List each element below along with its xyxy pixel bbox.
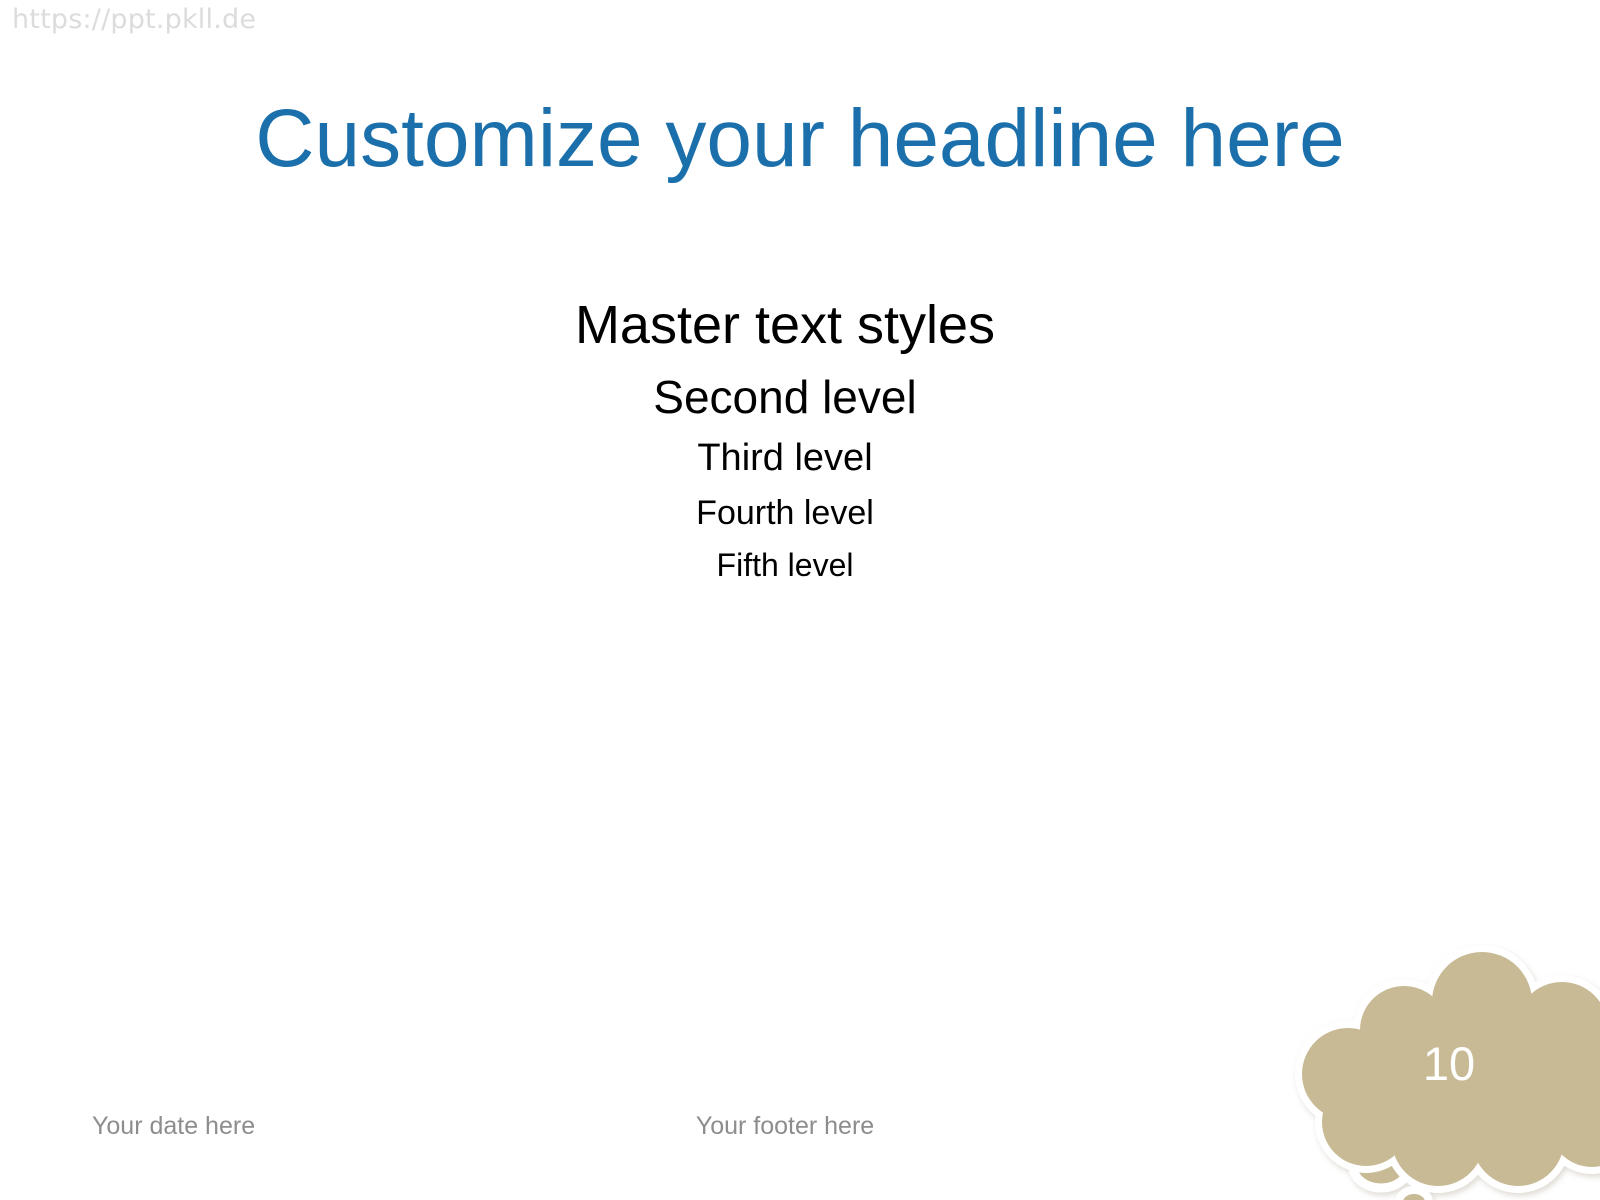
text-level-3: Third level [140, 431, 1430, 487]
slide-canvas: https://ppt.pkll.de Customize your headl… [0, 0, 1600, 1200]
master-text-placeholder: Master text styles Second level Third le… [140, 286, 1430, 591]
slide-number: 10 [1404, 1040, 1494, 1087]
text-level-1: Master text styles [140, 286, 1430, 364]
text-level-5: Fifth level [140, 540, 1430, 591]
footer-date-placeholder: Your date here [92, 1112, 255, 1141]
text-level-2: Second level [140, 364, 1430, 431]
text-level-4: Fourth level [140, 487, 1430, 540]
footer-text-placeholder: Your footer here [440, 1112, 1130, 1141]
page-title: Customize your headline here [150, 98, 1450, 180]
site-watermark: https://ppt.pkll.de [12, 4, 256, 35]
